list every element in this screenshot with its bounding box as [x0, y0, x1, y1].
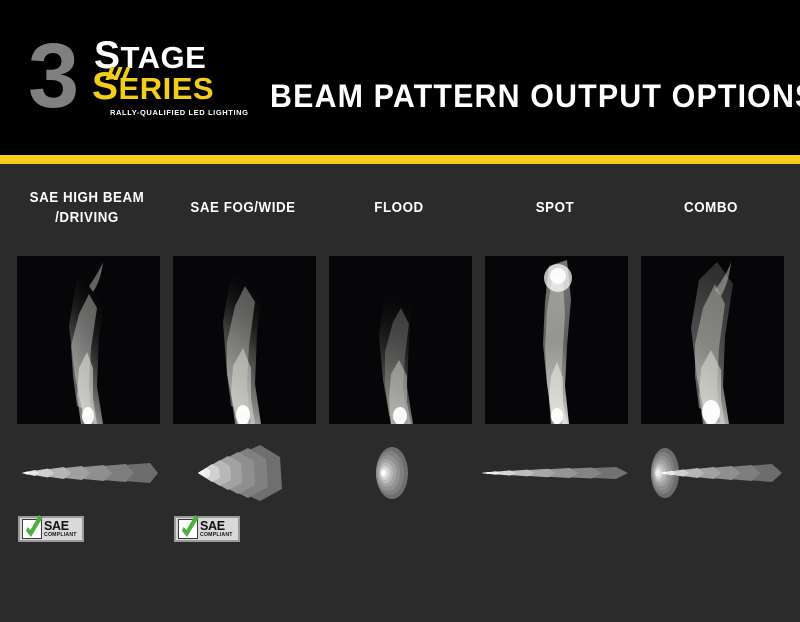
sae-compliant-badge: SAE COMPLIANT [174, 516, 240, 542]
column-label-line2: /DRIVING [55, 210, 119, 226]
beam-photo-sae-high-beam-driving [17, 256, 160, 424]
logo-tagline: RALLY-QUALIFIED LED LIGHTING [110, 108, 249, 117]
night-road-photo [485, 256, 628, 424]
badge-text: SAE COMPLIANT [44, 520, 77, 539]
column-label: SPOT [484, 198, 626, 218]
badge-compliant-label: COMPLIANT [44, 533, 77, 538]
beam-photo-combo [641, 256, 784, 424]
logo-word-series: SERIES [92, 71, 214, 104]
beam-column-sae-fog-wide[interactable]: SAE FOG/WIDE [166, 164, 320, 622]
beam-diagram-sae-fog-wide [166, 442, 320, 504]
beam-shape-flood-plus-spot [634, 442, 794, 504]
column-label-line1: COMBO [684, 200, 738, 216]
beam-column-spot[interactable]: SPOT [478, 164, 632, 622]
green-checkmark-icon [177, 514, 203, 544]
sae-compliant-badge: SAE COMPLIANT [18, 516, 84, 542]
night-road-photo [641, 256, 784, 424]
column-label: SAE HIGH BEAM /DRIVING [16, 188, 158, 228]
night-road-photo [329, 256, 472, 424]
night-road-photo [173, 256, 316, 424]
check-icon [22, 519, 42, 539]
beam-shape-wide-cone [166, 442, 320, 504]
beam-diagram-spot [478, 442, 632, 504]
brand-logo: 3 STAGE SERIES RALLY-QUALIFIED LED LIGHT… [28, 28, 238, 128]
column-label-line1: FLOOD [374, 200, 423, 216]
column-label-line1: SPOT [536, 200, 575, 216]
logo-wordmark: STAGE SERIES RALLY-QUALIFIED LED LIGHTIN… [94, 40, 244, 122]
beam-pattern-grid: SAE HIGH BEAM /DRIVING [0, 164, 800, 622]
badge-compliant-label: COMPLIANT [200, 533, 233, 538]
beam-column-flood[interactable]: FLOOD [322, 164, 476, 622]
green-checkmark-icon [21, 514, 47, 544]
header-bar: 3 STAGE SERIES RALLY-QUALIFIED LED LIGHT… [0, 0, 800, 155]
badge-sae-label: SAE [200, 520, 233, 533]
badge-sae-label: SAE [44, 520, 77, 533]
page-title: BEAM PATTERN OUTPUT OPTIONS [270, 78, 800, 115]
beam-shape-long-narrow [10, 442, 164, 504]
beam-shape-round-flood [322, 442, 476, 504]
column-label: SAE FOG/WIDE [172, 198, 314, 218]
beam-column-sae-high-beam-driving[interactable]: SAE HIGH BEAM /DRIVING [10, 164, 164, 622]
logo-numeral-3: 3 [28, 30, 74, 122]
beam-diagram-flood [322, 442, 476, 504]
beam-diagram-sae-high-beam-driving [10, 442, 164, 504]
check-icon [178, 519, 198, 539]
column-label-line1: SAE FOG/WIDE [190, 200, 295, 216]
beam-column-combo[interactable]: COMBO [634, 164, 788, 622]
beam-photo-spot [485, 256, 628, 424]
column-label: FLOOD [328, 198, 470, 218]
night-road-photo [17, 256, 160, 424]
column-label: COMBO [640, 198, 782, 218]
beam-shape-very-long-narrow [478, 442, 632, 504]
badge-text: SAE COMPLIANT [200, 520, 233, 539]
accent-divider-bar [0, 155, 800, 164]
column-label-line1: SAE HIGH BEAM [30, 190, 145, 206]
beam-diagram-combo [634, 442, 788, 504]
beam-photo-sae-fog-wide [173, 256, 316, 424]
beam-photo-flood [329, 256, 472, 424]
